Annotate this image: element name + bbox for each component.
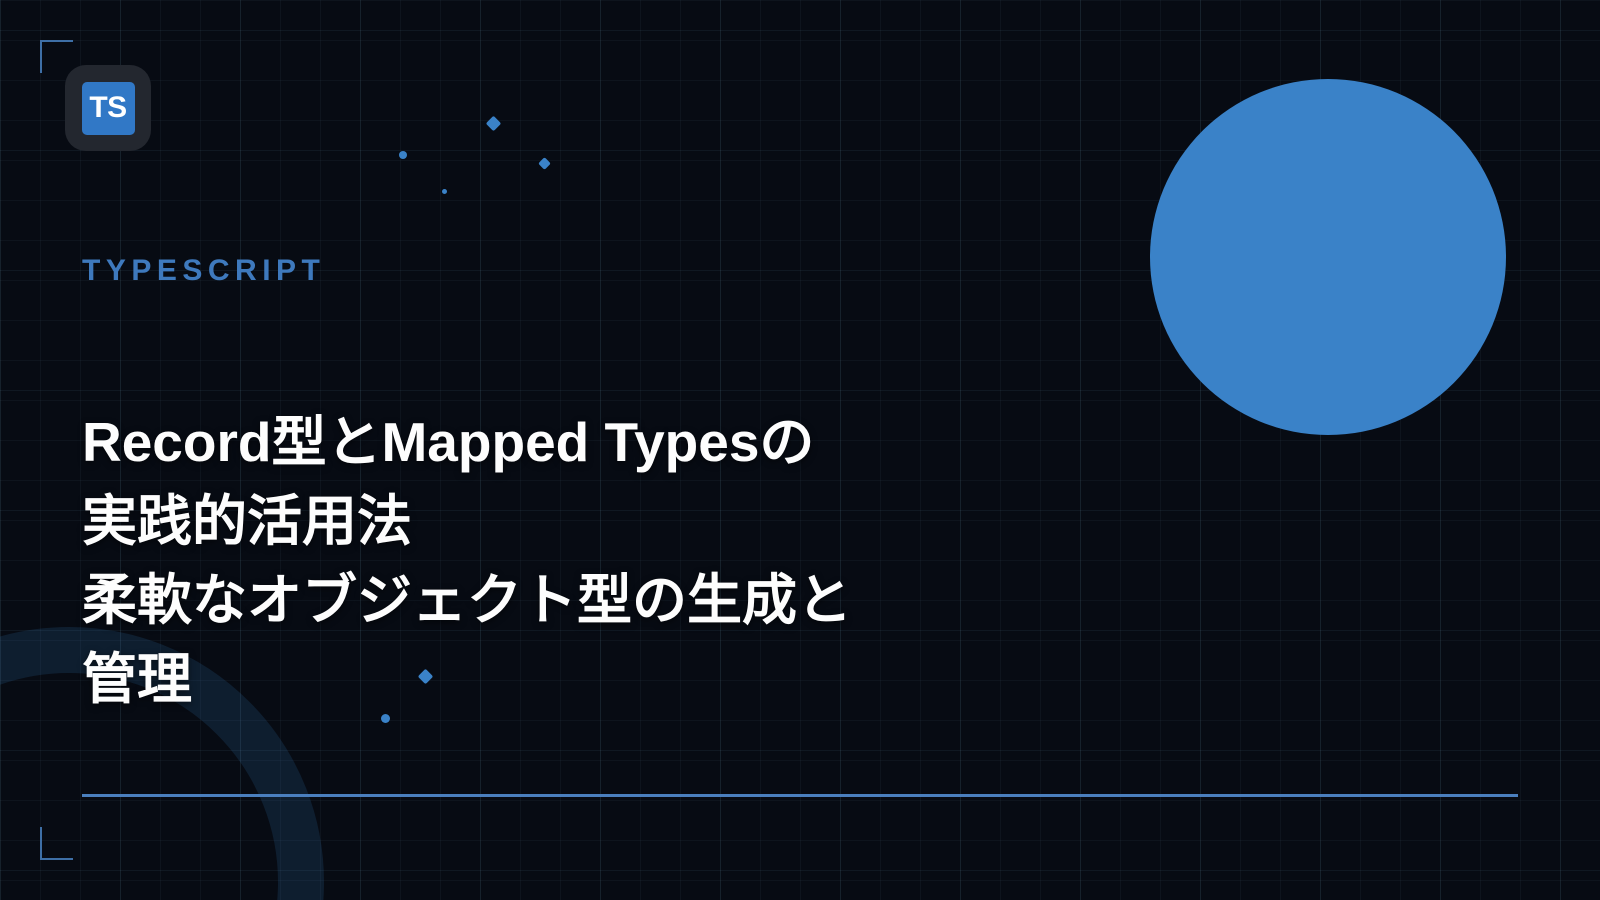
article-banner: TS TYPESCRIPT Record型とMapped Typesの 実践的活…	[0, 0, 1600, 900]
corner-bracket-top-left	[40, 40, 73, 73]
title-divider	[82, 794, 1518, 797]
title-line-1: Record型とMapped Typesの	[82, 403, 1072, 482]
page-title: Record型とMapped Typesの 実践的活用法 柔軟なオブジェクト型の…	[82, 403, 1072, 720]
title-line-4: 管理	[82, 640, 1072, 719]
title-line-3: 柔軟なオブジェクト型の生成と	[82, 561, 1072, 640]
corner-bracket-bottom-left	[40, 827, 73, 860]
title-line-2: 実践的活用法	[82, 482, 1072, 561]
decorative-circle	[1150, 79, 1506, 435]
category-label: TYPESCRIPT	[82, 256, 325, 286]
banner-content: TYPESCRIPT Record型とMapped Typesの 実践的活用法 …	[82, 0, 1092, 900]
